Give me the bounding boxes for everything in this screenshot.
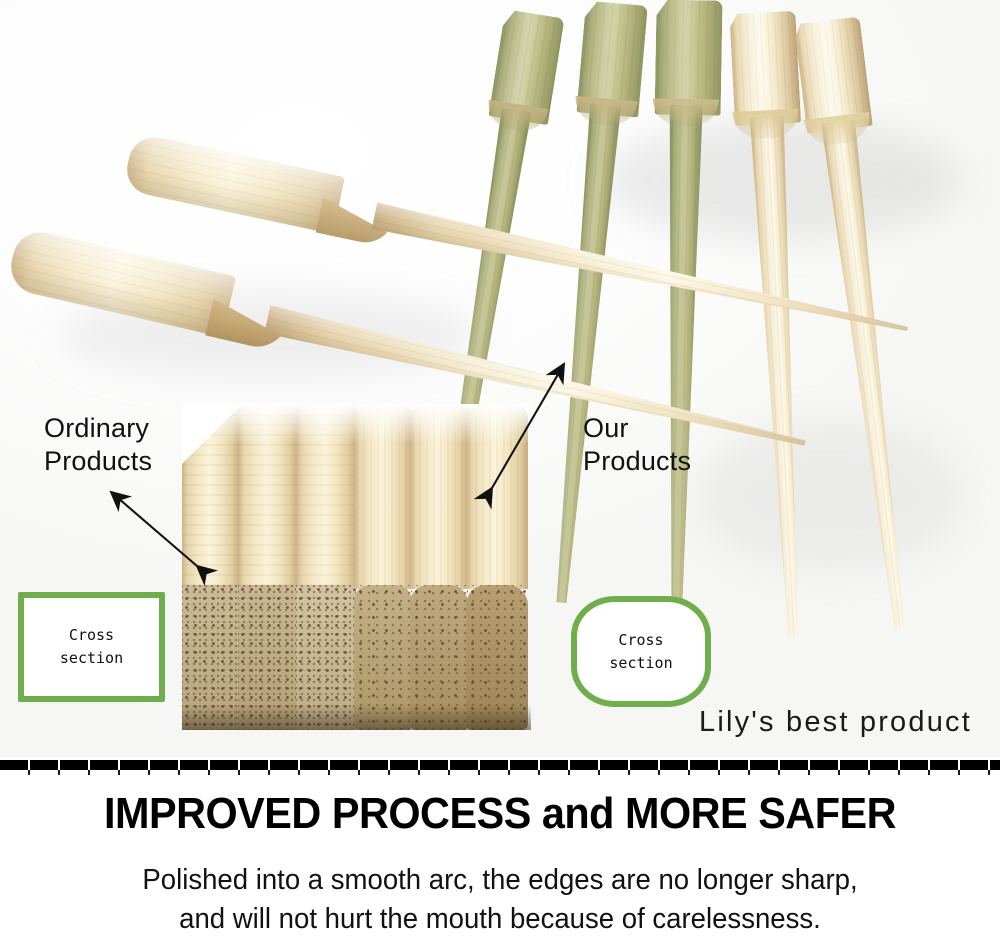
brand-watermark: Lily's best product xyxy=(699,706,972,739)
divider-gaps xyxy=(0,760,1000,770)
ordinary-products-label: Ordinary Products xyxy=(44,412,152,478)
ordinary-products-arrow xyxy=(95,478,225,583)
cross-section-label: Cross section xyxy=(60,624,123,670)
cross-section-box-ordinary: Cross section xyxy=(18,592,165,702)
paddle-head xyxy=(6,227,236,337)
skewer-shaft xyxy=(750,115,811,636)
divider-ticks xyxy=(0,770,1000,775)
cross-section-label: Cross section xyxy=(609,629,672,675)
cross-section-box-ours: Cross section xyxy=(571,596,711,707)
cross-section-stick xyxy=(296,404,356,730)
our-products-label: Our Products xyxy=(583,412,691,478)
cross-section-stick xyxy=(354,404,412,730)
banner-headline: IMPROVED PROCESS and MORE SAFER xyxy=(30,789,970,839)
banner-subtext: Polished into a smooth arc, the edges ar… xyxy=(25,861,975,937)
product-photo: Ordinary Products Our Products Cross sec… xyxy=(0,0,1000,757)
infographic-page: Ordinary Products Our Products Cross sec… xyxy=(0,0,1000,937)
paddle-head xyxy=(122,133,344,234)
cross-section-stick xyxy=(238,404,298,730)
dashed-divider xyxy=(0,760,1000,776)
our-products-arrow xyxy=(472,352,582,502)
cross-section-stick xyxy=(410,404,468,730)
